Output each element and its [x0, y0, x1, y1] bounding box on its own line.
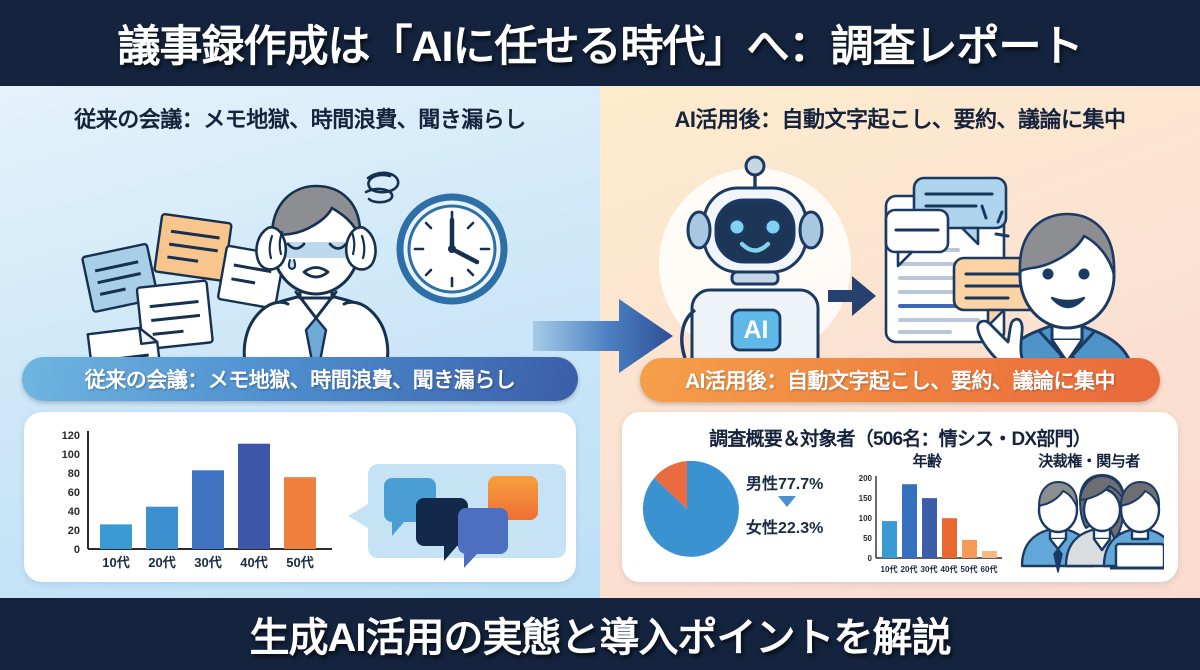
svg-text:80: 80 — [68, 468, 80, 480]
infographic-poster: 議事録作成は「AIに任せる時代」へ：調査レポート 従来の会議：メモ地獄、時間浪費… — [0, 0, 1200, 670]
gender-pie-chart — [632, 454, 752, 564]
bar-series — [100, 444, 316, 549]
bar-30dai — [922, 498, 937, 558]
svg-text:50代: 50代 — [286, 555, 313, 570]
svg-text:40代: 40代 — [941, 564, 958, 574]
left-age-bar-chart: 120 100 80 60 40 20 0 — [32, 417, 352, 577]
bar-50dai — [962, 540, 977, 558]
left-panel-heading: 従来の会議：メモ地獄、時間浪費、聞き漏らし — [0, 102, 600, 134]
svg-text:100: 100 — [62, 449, 80, 461]
legend-divider-triangle-icon — [778, 496, 796, 507]
poster-title: 議事録作成は「AIに任せる時代」へ：調査レポート — [118, 12, 1083, 74]
left-illustration — [0, 132, 600, 382]
svg-text:10代: 10代 — [881, 564, 898, 574]
svg-text:200: 200 — [859, 474, 873, 483]
svg-text:10代: 10代 — [102, 555, 129, 570]
poster-subtitle: 生成AI活用の実態と導入ポイントを解説 — [250, 605, 951, 663]
y-axis-ticks: 200 150 100 50 0 — [859, 474, 873, 563]
left-panel-before: 従来の会議：メモ地獄、時間浪費、聞き漏らし — [0, 86, 600, 598]
svg-text:60: 60 — [68, 487, 80, 499]
bubble-blue-mid — [458, 508, 508, 568]
svg-text:20: 20 — [68, 525, 80, 537]
bar-20dai — [146, 507, 178, 549]
bar-10dai — [882, 521, 897, 558]
svg-text:40代: 40代 — [240, 555, 267, 570]
svg-text:20代: 20代 — [901, 564, 918, 574]
svg-text:50代: 50代 — [961, 564, 978, 574]
body-area: 従来の会議：メモ地獄、時間浪費、聞き漏らし — [0, 86, 1200, 598]
robot-ai-badge-label: AI — [744, 316, 769, 344]
stress-swirl-icon — [366, 173, 398, 202]
bar-40dai — [942, 518, 957, 558]
decision-section-title: 決裁権・関与者 — [1014, 450, 1164, 471]
pie-legend-male: 男性77.7% — [746, 470, 823, 494]
svg-text:0: 0 — [868, 554, 873, 563]
svg-text:30代: 30代 — [194, 555, 221, 570]
top-banner: 議事録作成は「AIに任せる時代」へ：調査レポート — [0, 0, 1200, 86]
left-pill-label: 従来の会議：メモ地獄、時間浪費、聞き漏らし — [22, 357, 578, 401]
age-bar-chart: 200 150 100 50 0 — [846, 468, 1006, 578]
survey-heading: 調査概要＆対象者（506名：情シス・DX部門） — [622, 424, 1178, 451]
svg-text:50: 50 — [863, 534, 872, 543]
speech-bubbles-icon — [348, 422, 568, 572]
decision-maker-icons — [1014, 470, 1164, 574]
svg-text:150: 150 — [859, 494, 873, 503]
right-pill-label: AI活用後：自動文字起こし、要約、議論に集中 — [640, 358, 1160, 402]
bar-30dai — [192, 470, 224, 549]
right-panel-after: AI活用後：自動文字起こし、要約、議論に集中 — [600, 86, 1200, 598]
right-arrow-icon — [533, 299, 673, 373]
bar-10dai — [100, 524, 132, 549]
y-axis-ticks: 120 100 80 60 40 20 0 — [62, 430, 80, 556]
right-panel-heading: AI活用後：自動文字起こし、要約、議論に集中 — [600, 102, 1200, 134]
wall-clock-icon — [400, 197, 504, 301]
svg-text:60代: 60代 — [981, 564, 998, 574]
pie-legend-female: 女性22.3% — [746, 514, 823, 538]
bar-20dai — [902, 484, 917, 558]
svg-text:0: 0 — [74, 544, 80, 556]
bar-50dai — [284, 477, 316, 549]
svg-text:120: 120 — [62, 430, 80, 442]
left-chart-card: 120 100 80 60 40 20 0 — [24, 412, 576, 582]
svg-text:100: 100 — [859, 514, 873, 523]
svg-text:40: 40 — [68, 506, 80, 518]
bar-40dai — [238, 444, 270, 549]
x-axis-categories: 10代 20代 30代 40代 50代 60代 — [881, 564, 998, 574]
bar-60dai — [982, 551, 997, 558]
bottom-banner: 生成AI活用の実態と導入ポイントを解説 — [0, 598, 1200, 670]
survey-overview-card: 調査概要＆対象者（506名：情シス・DX部門） 男性77.7% 女性22.3% … — [622, 412, 1178, 582]
svg-text:30代: 30代 — [921, 564, 938, 574]
right-illustration: AI — [600, 132, 1200, 382]
bar-series — [882, 484, 997, 558]
x-axis-categories: 10代 20代 30代 40代 50代 — [102, 555, 313, 570]
svg-text:20代: 20代 — [148, 555, 175, 570]
